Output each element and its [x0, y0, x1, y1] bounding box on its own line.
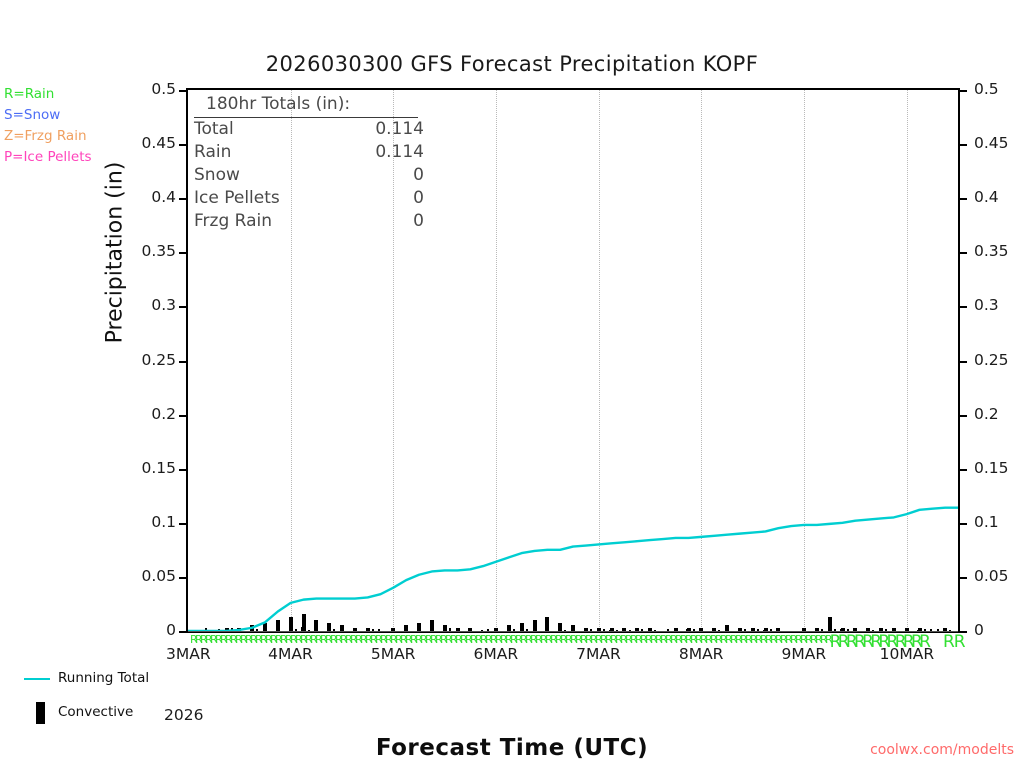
- y-axis-tick-mark-right: [960, 90, 967, 92]
- y-axis-tick-label-left: 0.4: [134, 188, 176, 206]
- x-axis-tick-label: 4MAR: [268, 645, 313, 663]
- phase-key-ice-pellets: P=Ice Pellets: [4, 147, 154, 168]
- totals-box: 180hr Totals (in):Total0.114Rain0.114Sno…: [194, 94, 446, 233]
- totals-row-label: Ice Pellets: [194, 188, 280, 208]
- y-axis-tick-mark-left: [179, 252, 186, 254]
- y-axis-tick-mark-left: [179, 631, 186, 633]
- y-axis-tick-mark-left: [179, 198, 186, 200]
- y-axis-tick-label-left: 0.35: [134, 242, 176, 260]
- legend-convective: Convective: [14, 702, 184, 724]
- y-axis-tick-mark-right: [960, 577, 967, 579]
- precip-type-glyph-rain: R: [954, 634, 966, 651]
- y-axis-tick-mark-left: [179, 361, 186, 363]
- x-axis-tick-label: 8MAR: [679, 645, 724, 663]
- convective-bar-swatch: [36, 702, 45, 724]
- y-axis-tick-mark-left: [179, 306, 186, 308]
- y-axis-tick-mark-right: [960, 361, 967, 363]
- legend-convective-label: Convective: [58, 704, 133, 720]
- watermark: coolwx.com/modelts: [0, 742, 1014, 758]
- running-total-line: [188, 508, 958, 631]
- legend-running-total: Running Total: [14, 668, 184, 690]
- totals-row: Ice Pellets0: [194, 187, 446, 210]
- y-axis-tick-label-left: 0.45: [134, 134, 176, 152]
- totals-row-label: Rain: [194, 142, 231, 162]
- y-axis-tick-mark-right: [960, 415, 967, 417]
- y-axis-tick-label-right: 0.35: [974, 242, 1024, 260]
- page-title: 2026030300 GFS Forecast Precipitation KO…: [0, 52, 1024, 76]
- y-axis-tick-label-right: 0.45: [974, 134, 1024, 152]
- x-axis-tick-label: 9MAR: [782, 645, 827, 663]
- running-total-line-swatch: [24, 678, 50, 680]
- y-axis-tick-label-right: 0.5: [974, 80, 1024, 98]
- y-axis-tick-label-right: 0.2: [974, 405, 1024, 423]
- x-axis-tick-label: 3MAR: [166, 645, 211, 663]
- x-axis-tick-label: 6MAR: [474, 645, 519, 663]
- y-axis-tick-mark-left: [179, 577, 186, 579]
- y-axis-tick-label-left: 0.5: [134, 80, 176, 98]
- y-axis-tick-mark-right: [960, 523, 967, 525]
- totals-row: Frzg Rain0: [194, 210, 446, 233]
- phase-key-frzg-rain: Z=Frzg Rain: [4, 126, 154, 147]
- totals-row: Total0.114: [194, 118, 446, 141]
- y-axis-tick-mark-right: [960, 252, 967, 254]
- y-axis-tick-label-left: 0: [134, 621, 176, 639]
- totals-row-value: 0.114: [334, 142, 424, 162]
- y-axis-tick-mark-right: [960, 469, 967, 471]
- y-axis-tick-label-left: 0.1: [134, 513, 176, 531]
- phase-key-snow: S=Snow: [4, 105, 154, 126]
- y-axis-tick-label-right: 0: [974, 621, 1024, 639]
- y-axis-tick-label-right: 0.1: [974, 513, 1024, 531]
- totals-row-value: 0: [334, 211, 424, 231]
- y-axis-tick-label-right: 0.3: [974, 296, 1024, 314]
- y-axis-tick-mark-right: [960, 306, 967, 308]
- x-axis-tick-label: 5MAR: [371, 645, 416, 663]
- chart-canvas: 2026030300 GFS Forecast Precipitation KO…: [0, 0, 1024, 768]
- y-axis-tick-mark-right: [960, 198, 967, 200]
- y-axis-tick-label-right: 0.15: [974, 459, 1024, 477]
- y-axis-tick-mark-left: [179, 415, 186, 417]
- precip-phase-key: R=Rain S=Snow Z=Frzg Rain P=Ice Pellets: [4, 84, 154, 168]
- y-axis-tick-label-left: 0.15: [134, 459, 176, 477]
- totals-row: Rain0.114: [194, 141, 446, 164]
- y-axis-tick-label-left: 0.25: [134, 351, 176, 369]
- x-axis-tick-label: 7MAR: [576, 645, 621, 663]
- y-axis-tick-label-right: 0.25: [974, 351, 1024, 369]
- y-axis-tick-mark-left: [179, 523, 186, 525]
- totals-row-value: 0.114: [334, 119, 424, 139]
- totals-row-value: 0: [334, 188, 424, 208]
- y-axis-tick-label-left: 0.3: [134, 296, 176, 314]
- y-axis-tick-label-left: 0.2: [134, 405, 176, 423]
- y-axis-tick-mark-right: [960, 144, 967, 146]
- y-axis-tick-mark-left: [179, 90, 186, 92]
- y-axis-title: Precipitation (in): [103, 123, 128, 383]
- y-axis-tick-mark-left: [179, 144, 186, 146]
- phase-key-rain: R=Rain: [4, 84, 154, 105]
- y-axis-tick-label-left: 0.05: [134, 567, 176, 585]
- totals-row-value: 0: [334, 165, 424, 185]
- y-axis-tick-label-right: 0.05: [974, 567, 1024, 585]
- y-axis-tick-mark-left: [179, 469, 186, 471]
- legend-running-total-label: Running Total: [58, 670, 149, 686]
- y-axis-tick-label-right: 0.4: [974, 188, 1024, 206]
- totals-row-label: Snow: [194, 165, 240, 185]
- totals-row: Snow0: [194, 164, 446, 187]
- totals-box-heading: 180hr Totals (in):: [194, 94, 418, 118]
- totals-row-label: Frzg Rain: [194, 211, 272, 231]
- precip-type-glyph-rain: R: [919, 634, 931, 651]
- totals-row-label: Total: [194, 119, 234, 139]
